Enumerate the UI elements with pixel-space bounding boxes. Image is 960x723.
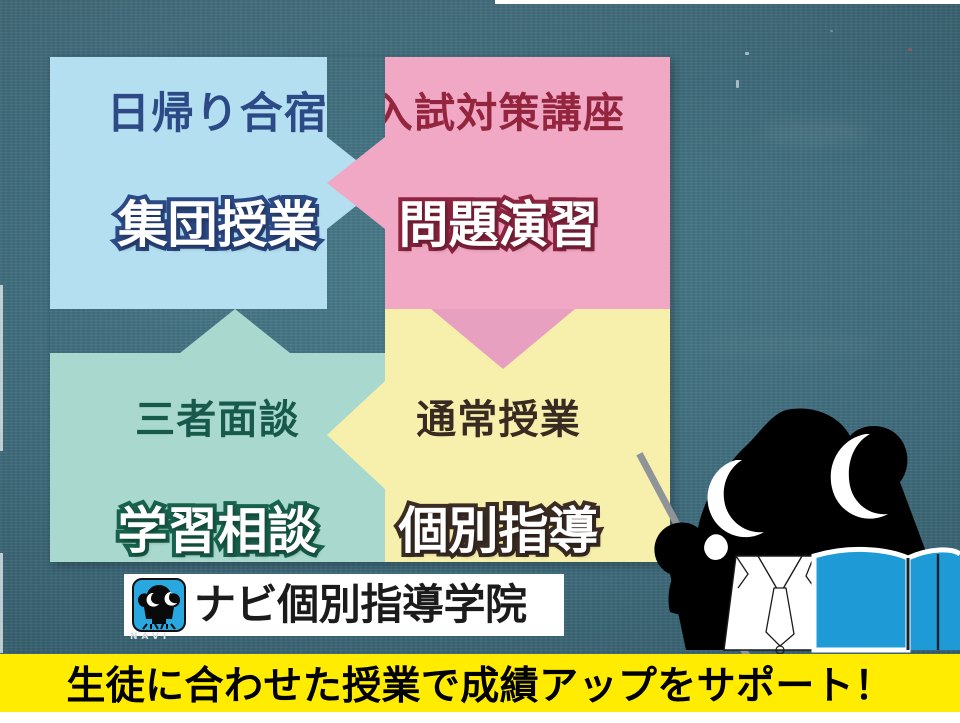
service-quadrant-panel: 日帰り合宿 集団授業 入試対策講座 問題演習 三者面談 学習相談 通常授業 個別… [50,57,670,562]
left-edge-mark [0,285,3,451]
owl-teacher-mascot [608,398,960,666]
open-book [814,549,960,650]
top-white-strip [495,0,960,4]
chalk-fleck [830,30,833,32]
quadrant-chip-label: 集団授業 [50,185,385,257]
chalk-fleck [745,52,749,55]
mascot-hand [703,533,729,561]
quadrant-chip-label: 問題演習 [327,185,670,257]
brand-subtitle: NAVI [130,632,192,642]
chalk-smudge [760,120,870,146]
ad-screenshot: 日帰り合宿 集団授業 入試対策講座 問題演習 三者面談 学習相談 通常授業 個別… [0,0,960,723]
left-edge-mark [0,553,3,653]
bottom-white-strip [0,712,960,723]
quadrant-heading: 入試対策講座 [327,79,670,139]
quadrant-chip-label: 学習相談 [50,491,385,563]
chalk-fleck [736,80,739,88]
tagline-text: 生徒に合わせた授業で成績アップをサポート！ [66,655,893,711]
brand-name: ナビ個別指導学院 [194,584,527,626]
quadrant-heading: 日帰り合宿 [50,79,385,141]
quadrant-top-right: 入試対策講座 問題演習 [327,57,670,309]
brand-logo: ナビ個別指導学院 [124,574,564,636]
chalk-smudge [700,330,880,360]
tagline-banner: 生徒に合わせた授業で成績アップをサポート！ [0,654,960,712]
chalk-fleck [908,48,912,51]
navi-owl-logo-icon [132,578,186,632]
